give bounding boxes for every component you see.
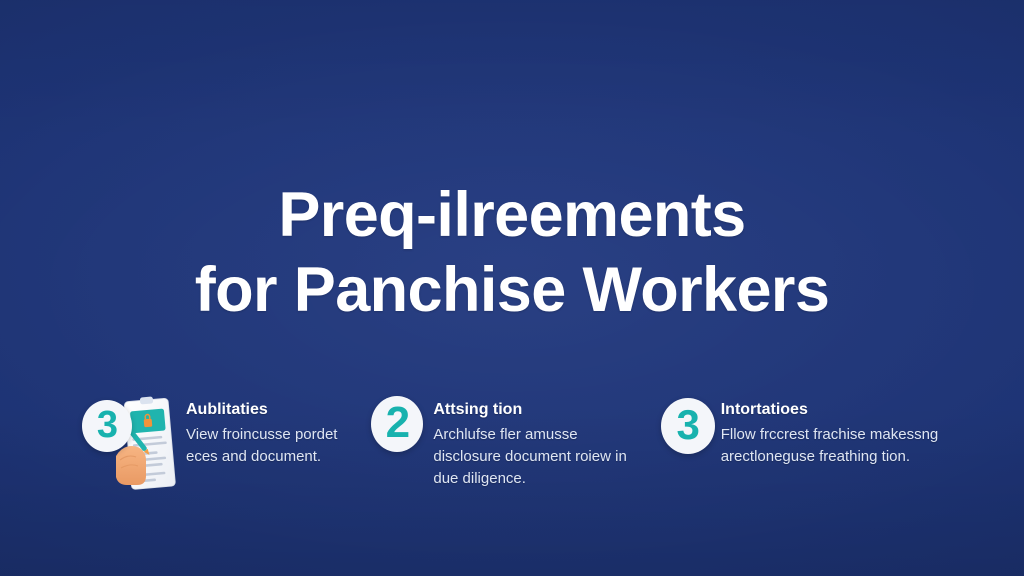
- column-1-text: Aublitaties View froincusse pordet eces …: [182, 396, 365, 468]
- column-3-body: Fllow frccrest frachise makessng arectlo…: [721, 424, 946, 468]
- step-badge-2-number: 2: [386, 401, 409, 445]
- column-1-body: View froincusse pordet eces and document…: [186, 424, 365, 468]
- step-badge-3: 3: [661, 398, 715, 454]
- step-badge-2: 2: [371, 396, 423, 452]
- step-badge-3-number: 3: [677, 404, 699, 446]
- step-badge-1-number: 3: [97, 406, 117, 444]
- step-badge-1: 3: [82, 400, 132, 452]
- column-2-heading: Attsing tion: [433, 400, 648, 420]
- feature-column-1: 3 Aublitaties View froincusse pordet ece…: [78, 396, 365, 498]
- column-3-heading: Intortatioes: [721, 400, 946, 420]
- column-2-text: Attsing tion Archlufse fler amusse discl…: [419, 396, 648, 490]
- feature-columns: 3 Aublitaties View froincusse pordet ece…: [78, 396, 958, 498]
- feature-column-2: 2 Attsing tion Archlufse fler amusse dis…: [365, 396, 658, 498]
- column-2-body: Archlufse fler amusse disclosure documen…: [433, 424, 648, 490]
- column-3-artwork: 3: [661, 394, 709, 498]
- slide-canvas: Preq-ilreements for Panchise Workers: [0, 0, 1024, 576]
- page-title: Preq-ilreements for Panchise Workers: [0, 178, 1024, 328]
- feature-column-3: 3 Intortatioes Fllow frccrest frachise m…: [659, 396, 958, 498]
- column-2-artwork: 2: [371, 394, 419, 498]
- column-1-artwork: 3: [78, 394, 182, 498]
- title-line-1: Preq-ilreements: [0, 178, 1024, 253]
- column-3-text: Intortatioes Fllow frccrest frachise mak…: [709, 396, 946, 468]
- column-1-heading: Aublitaties: [186, 400, 365, 420]
- title-line-2: for Panchise Workers: [0, 253, 1024, 328]
